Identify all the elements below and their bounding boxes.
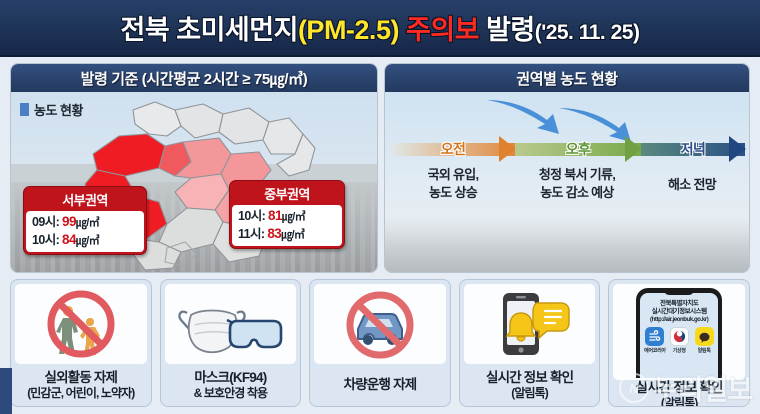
forecast-scene: 오전 오후 저녁 국외 <box>385 92 749 273</box>
phone-app-row: 에어코리아 기상청 <box>643 327 715 354</box>
card-no-outdoor-activity[interactable]: 실외활동 자제 (민감군, 어린이, 노약자) <box>10 279 152 407</box>
callout-central-time-2: 11시: <box>238 227 264 241</box>
no-vehicle-icon <box>338 285 422 363</box>
forecast-afternoon-line1: 청정 북서 기류, <box>511 166 643 184</box>
callout-central-value-2: 83 <box>267 226 281 241</box>
card-3-icon-area <box>314 284 446 364</box>
card-2-line2: & 보호안경 착용 <box>194 386 267 400</box>
timeline-label-evening: 저녁 <box>641 139 745 159</box>
card-1-icon-area <box>15 284 147 364</box>
card-2-icon-area <box>165 284 297 364</box>
callout-west-region: 서부권역 09시: 99㎍/㎥ 10시: 84㎍/㎥ <box>23 186 147 255</box>
card-5-icon-area: 전북특별자치도 실시간대기정보시스템 (http://air.jeonbuk.g… <box>613 284 745 380</box>
alimtalk-app-label: 알림톡 <box>694 347 714 354</box>
callout-west-time-2: 10시: <box>32 233 59 247</box>
card-air-info-system[interactable]: 전북특별자치도 실시간대기정보시스템 (http://air.jeonbuk.g… <box>608 279 750 407</box>
timeline-segment-afternoon: 오후 <box>515 136 641 162</box>
action-cards: 실외활동 자제 (민감군, 어린이, 노약자) <box>10 279 750 407</box>
callout-central-time-1: 10시: <box>238 209 265 223</box>
card-5-line1: 실시간 정보 확인 <box>636 380 723 396</box>
card-realtime-info-alert[interactable]: 실시간 정보 확인 (알림톡) <box>459 279 601 407</box>
card-4-line2: (알림톡) <box>511 386 548 400</box>
callout-west-unit-1: ㎍/㎥ <box>76 217 99 229</box>
left-corner-accent <box>0 368 12 414</box>
forecast-description-evening: 해소 전망 <box>639 176 745 194</box>
kma-app-label: 기상청 <box>669 347 689 354</box>
map-district-ne <box>219 108 269 144</box>
card-3-line1: 차량운행 자제 <box>344 377 417 393</box>
callout-central-unit-2: ㎍/㎥ <box>281 229 304 241</box>
left-panel-body: 농도 현황 <box>11 92 377 273</box>
map-district-west-1 <box>93 134 165 176</box>
content-area: 발령 기준 (시간평균 2시간 ≥ 75㎍/㎥) 농도 현황 <box>0 57 760 414</box>
right-panel-header-text: 권역별 농도 현황 <box>516 68 617 89</box>
forecast-description-afternoon: 청정 북서 기류, 농도 감소 예상 <box>511 166 643 201</box>
callout-central-region: 중부권역 10시: 81㎍/㎥ 11시: 83㎍/㎥ <box>229 180 345 249</box>
callout-central-row-1: 10시: 81㎍/㎥ <box>238 207 336 225</box>
map-district-south-1 <box>159 208 223 252</box>
card-5-text: 실시간 정보 확인 (알림톡) <box>609 380 749 407</box>
card-2-text: 마스크(KF94) & 보호안경 착용 <box>161 364 301 406</box>
map-district-nw <box>133 102 181 136</box>
forecast-afternoon-line2: 농도 감소 예상 <box>511 184 643 202</box>
phone-app-alimtalk[interactable]: 알림톡 <box>694 327 714 354</box>
airkorea-app-icon <box>645 327 664 346</box>
no-outdoor-activity-icon <box>38 284 124 364</box>
title-alert-label: 주의보 <box>406 15 479 45</box>
legend-swatch-icon <box>20 103 29 116</box>
card-2-line1: 마스크(KF94) <box>194 370 266 386</box>
phone-screen: 전북특별자치도 실시간대기정보시스템 (http://air.jeonbuk.g… <box>640 293 718 378</box>
forecast-morning-line1: 국외 유입, <box>389 166 517 184</box>
callout-central-unit-1: ㎍/㎥ <box>282 211 305 223</box>
timeline-label-morning: 오전 <box>391 139 515 159</box>
callout-west-value-1: 99 <box>62 214 76 229</box>
callout-central-value-1: 81 <box>268 208 282 223</box>
forecast-haze <box>385 216 749 273</box>
callout-west-rows: 09시: 99㎍/㎥ 10시: 84㎍/㎥ <box>26 211 144 252</box>
map-legend: 농도 현황 <box>20 100 83 119</box>
timeline-segment-evening: 저녁 <box>641 136 745 162</box>
callout-west-value-2: 84 <box>62 232 76 247</box>
callout-central-row-2: 11시: 83㎍/㎥ <box>238 225 336 243</box>
card-4-line1: 실시간 정보 확인 <box>486 370 573 386</box>
callout-west-unit-2: ㎍/㎥ <box>76 235 99 247</box>
right-panel-body: 오전 오후 저녁 국외 <box>385 92 749 273</box>
panel-regional-forecast: 권역별 농도 현황 오전 <box>384 63 750 273</box>
mask-goggles-icon <box>175 287 285 361</box>
callout-central-rows: 10시: 81㎍/㎥ 11시: 83㎍/㎥ <box>232 205 342 246</box>
title-part2: 발령 <box>486 15 535 45</box>
timeline-segment-morning: 오전 <box>391 136 515 162</box>
panel-alert-criteria: 발령 기준 (시간평균 2시간 ≥ 75㎍/㎥) 농도 현황 <box>10 63 378 273</box>
kma-app-icon <box>670 327 689 346</box>
callout-west-time-1: 09시: <box>32 215 59 229</box>
card-1-line1: 실외활동 자제 <box>44 370 117 386</box>
phone-air-system-icon: 전북특별자치도 실시간대기정보시스템 (http://air.jeonbuk.g… <box>633 286 725 378</box>
infographic-page: 전북 초미세먼지(PM-2.5) 주의보 발령('25. 11. 25) 발령 … <box>0 0 760 414</box>
phone-bell-alert-icon <box>487 285 573 363</box>
phone-screen-url: (http://air.jeonbuk.go.kr) <box>643 317 715 323</box>
phone-app-airkorea[interactable]: 에어코리아 <box>644 327 664 354</box>
alimtalk-app-icon <box>695 327 714 346</box>
phone-notch <box>664 290 694 295</box>
card-1-text: 실외활동 자제 (민감군, 어린이, 노약자) <box>11 364 151 406</box>
forecast-timeline: 오전 오후 저녁 <box>391 136 745 162</box>
card-mask-goggles[interactable]: 마스크(KF94) & 보호안경 착용 <box>160 279 302 407</box>
callout-west-row-2: 10시: 84㎍/㎥ <box>32 231 138 249</box>
callout-west-title: 서부권역 <box>26 189 144 211</box>
title-bar: 전북 초미세먼지(PM-2.5) 주의보 발령('25. 11. 25) <box>0 0 760 57</box>
card-3-text: 차량운행 자제 <box>310 364 450 406</box>
card-no-vehicle[interactable]: 차량운행 자제 <box>309 279 451 407</box>
legend-label: 농도 현황 <box>34 100 83 119</box>
timeline-label-afternoon: 오후 <box>515 139 641 159</box>
right-panel-header: 권역별 농도 현황 <box>385 64 749 92</box>
title-part1: 전북 초미세먼지 <box>121 15 298 45</box>
phone-screen-line2: 실시간대기정보시스템 <box>643 308 715 316</box>
card-5-line2: (알림톡) <box>661 396 698 407</box>
forecast-evening-line1: 해소 전망 <box>639 176 745 194</box>
card-4-text: 실시간 정보 확인 (알림톡) <box>460 364 600 406</box>
callout-west-row-1: 09시: 99㎍/㎥ <box>32 213 138 231</box>
map-scene: 농도 현황 <box>11 92 377 273</box>
left-panel-header-text: 발령 기준 (시간평균 2시간 ≥ 75㎍/㎥) <box>81 68 308 89</box>
card-1-line2: (민감군, 어린이, 노약자) <box>27 386 134 400</box>
phone-app-kma[interactable]: 기상청 <box>669 327 689 354</box>
title-date: ('25. 11. 25) <box>535 21 640 44</box>
map-district-n <box>175 104 223 138</box>
forecast-description-morning: 국외 유입, 농도 상승 <box>389 166 517 201</box>
left-panel-header: 발령 기준 (시간평균 2시간 ≥ 75㎍/㎥) <box>11 64 377 92</box>
airkorea-app-label: 에어코리아 <box>644 347 664 354</box>
phone-body: 전북특별자치도 실시간대기정보시스템 (http://air.jeonbuk.g… <box>636 288 722 378</box>
card-4-icon-area <box>464 284 596 364</box>
page-title: 전북 초미세먼지(PM-2.5) 주의보 발령('25. 11. 25) <box>121 8 640 47</box>
callout-central-title: 중부권역 <box>232 183 342 205</box>
title-pm-label: (PM-2.5) <box>298 15 399 45</box>
forecast-morning-line2: 농도 상승 <box>389 184 517 202</box>
